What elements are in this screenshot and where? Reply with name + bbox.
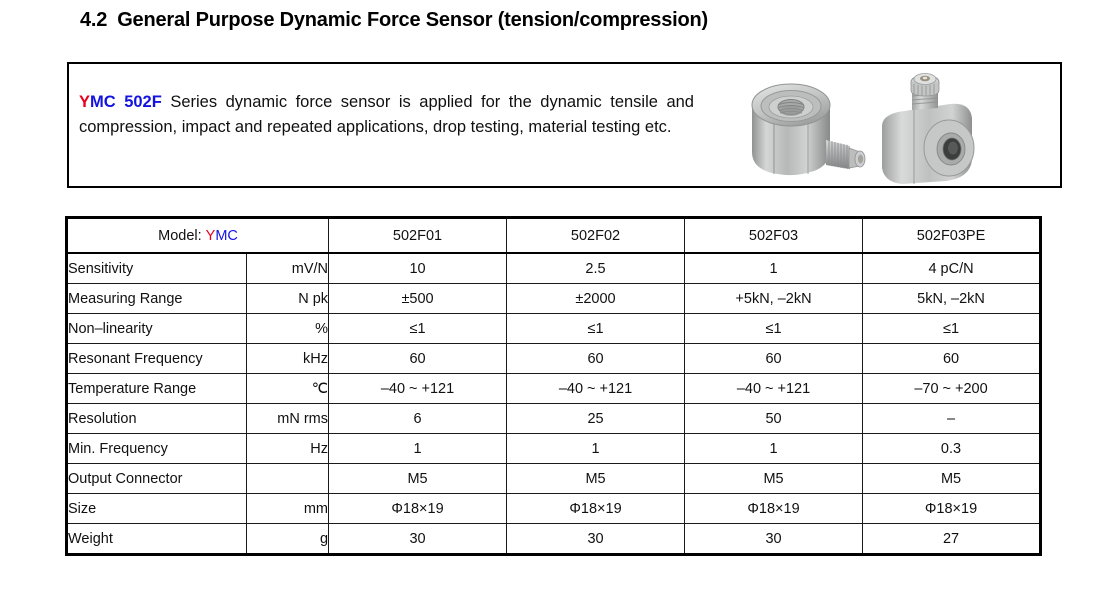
- param-unit: ℃: [247, 374, 329, 404]
- param-unit: [247, 464, 329, 494]
- param-unit: mm: [247, 494, 329, 524]
- description-text: YMC 502F Series dynamic force sensor is …: [79, 90, 694, 140]
- value-502F03PE: M5: [863, 464, 1041, 494]
- column-header-502F03: 502F03: [685, 218, 863, 254]
- value-502F03: –40 ~ +121: [685, 374, 863, 404]
- value-502F03PE: 27: [863, 524, 1041, 555]
- value-502F03: Φ18×19: [685, 494, 863, 524]
- param-unit: Hz: [247, 434, 329, 464]
- column-header-502F03PE: 502F03PE: [863, 218, 1041, 254]
- column-header-502F02: 502F02: [507, 218, 685, 254]
- value-502F02: 25: [507, 404, 685, 434]
- value-502F02: ≤1: [507, 314, 685, 344]
- value-502F02: –40 ~ +121: [507, 374, 685, 404]
- value-502F02: ±2000: [507, 284, 685, 314]
- table-row: Output Connector M5 M5 M5 M5: [67, 464, 1041, 494]
- table-row: Resonant Frequency kHz 60 60 60 60: [67, 344, 1041, 374]
- param-unit: %: [247, 314, 329, 344]
- param-unit: N pk: [247, 284, 329, 314]
- table-row: Size mm Φ18×19 Φ18×19 Φ18×19 Φ18×19: [67, 494, 1041, 524]
- section-number: 4.2: [80, 9, 107, 31]
- table-row: Measuring Range N pk ±500 ±2000 +5kN, –2…: [67, 284, 1041, 314]
- table-row: Temperature Range ℃ –40 ~ +121 –40 ~ +12…: [67, 374, 1041, 404]
- value-502F03PE: 5kN, –2kN: [863, 284, 1041, 314]
- param-unit: mV/N: [247, 253, 329, 284]
- param-unit: g: [247, 524, 329, 555]
- value-502F03: 1: [685, 253, 863, 284]
- brand-name: MC 502F: [90, 93, 162, 111]
- description-body: Series dynamic force sensor is applied f…: [79, 93, 694, 136]
- table-row: Sensitivity mV/N 10 2.5 1 4 pC/N: [67, 253, 1041, 284]
- value-502F03: 1: [685, 434, 863, 464]
- table-row: Weight g 30 30 30 27: [67, 524, 1041, 555]
- value-502F03PE: Φ18×19: [863, 494, 1041, 524]
- brand-initial: Y: [79, 93, 90, 111]
- value-502F02: 2.5: [507, 253, 685, 284]
- sensor-photo-left: [738, 70, 868, 188]
- specification-table: Model: YMC 502F01 502F02 502F03 502F03PE…: [65, 216, 1042, 556]
- param-name: Resonant Frequency: [67, 344, 247, 374]
- page-title: 4.2General Purpose Dynamic Force Sensor …: [80, 9, 708, 32]
- param-name: Measuring Range: [67, 284, 247, 314]
- model-label: Model:: [158, 228, 202, 244]
- column-header-502F01: 502F01: [329, 218, 507, 254]
- param-name: Non–linearity: [67, 314, 247, 344]
- value-502F01: 60: [329, 344, 507, 374]
- value-502F02: 60: [507, 344, 685, 374]
- value-502F01: M5: [329, 464, 507, 494]
- value-502F02: Φ18×19: [507, 494, 685, 524]
- value-502F03PE: ≤1: [863, 314, 1041, 344]
- param-name: Resolution: [67, 404, 247, 434]
- value-502F02: 30: [507, 524, 685, 555]
- value-502F03PE: –70 ~ +200: [863, 374, 1041, 404]
- param-name: Sensitivity: [67, 253, 247, 284]
- value-502F03: ≤1: [685, 314, 863, 344]
- value-502F03PE: –: [863, 404, 1041, 434]
- value-502F02: 1: [507, 434, 685, 464]
- value-502F01: –40 ~ +121: [329, 374, 507, 404]
- header-model-cell: Model: YMC: [67, 218, 329, 254]
- value-502F03PE: 0.3: [863, 434, 1041, 464]
- table-header-row: Model: YMC 502F01 502F02 502F03 502F03PE: [67, 218, 1041, 254]
- value-502F03PE: 60: [863, 344, 1041, 374]
- description-panel: YMC 502F Series dynamic force sensor is …: [67, 62, 1062, 188]
- sensor-photo-right: [872, 68, 1002, 190]
- table-row: Non–linearity % ≤1 ≤1 ≤1 ≤1: [67, 314, 1041, 344]
- value-502F02: M5: [507, 464, 685, 494]
- table-row: Resolution mN rms 6 25 50 –: [67, 404, 1041, 434]
- value-502F03PE: 4 pC/N: [863, 253, 1041, 284]
- value-502F03: 50: [685, 404, 863, 434]
- param-name: Min. Frequency: [67, 434, 247, 464]
- value-502F03: 60: [685, 344, 863, 374]
- model-brand-name: MC: [215, 228, 238, 244]
- value-502F01: Φ18×19: [329, 494, 507, 524]
- value-502F01: ≤1: [329, 314, 507, 344]
- value-502F03: M5: [685, 464, 863, 494]
- value-502F01: 6: [329, 404, 507, 434]
- section-title-text: General Purpose Dynamic Force Sensor (te…: [117, 9, 708, 31]
- value-502F01: 30: [329, 524, 507, 555]
- table-row: Min. Frequency Hz 1 1 1 0.3: [67, 434, 1041, 464]
- param-name: Weight: [67, 524, 247, 555]
- value-502F01: 1: [329, 434, 507, 464]
- value-502F03: +5kN, –2kN: [685, 284, 863, 314]
- param-name: Output Connector: [67, 464, 247, 494]
- table-body: Sensitivity mV/N 10 2.5 1 4 pC/N Measuri…: [67, 253, 1041, 555]
- param-name: Size: [67, 494, 247, 524]
- param-unit: kHz: [247, 344, 329, 374]
- model-brand-initial: Y: [206, 228, 216, 244]
- product-photo-group: [732, 68, 1032, 188]
- param-unit: mN rms: [247, 404, 329, 434]
- value-502F01: 10: [329, 253, 507, 284]
- param-name: Temperature Range: [67, 374, 247, 404]
- value-502F01: ±500: [329, 284, 507, 314]
- value-502F03: 30: [685, 524, 863, 555]
